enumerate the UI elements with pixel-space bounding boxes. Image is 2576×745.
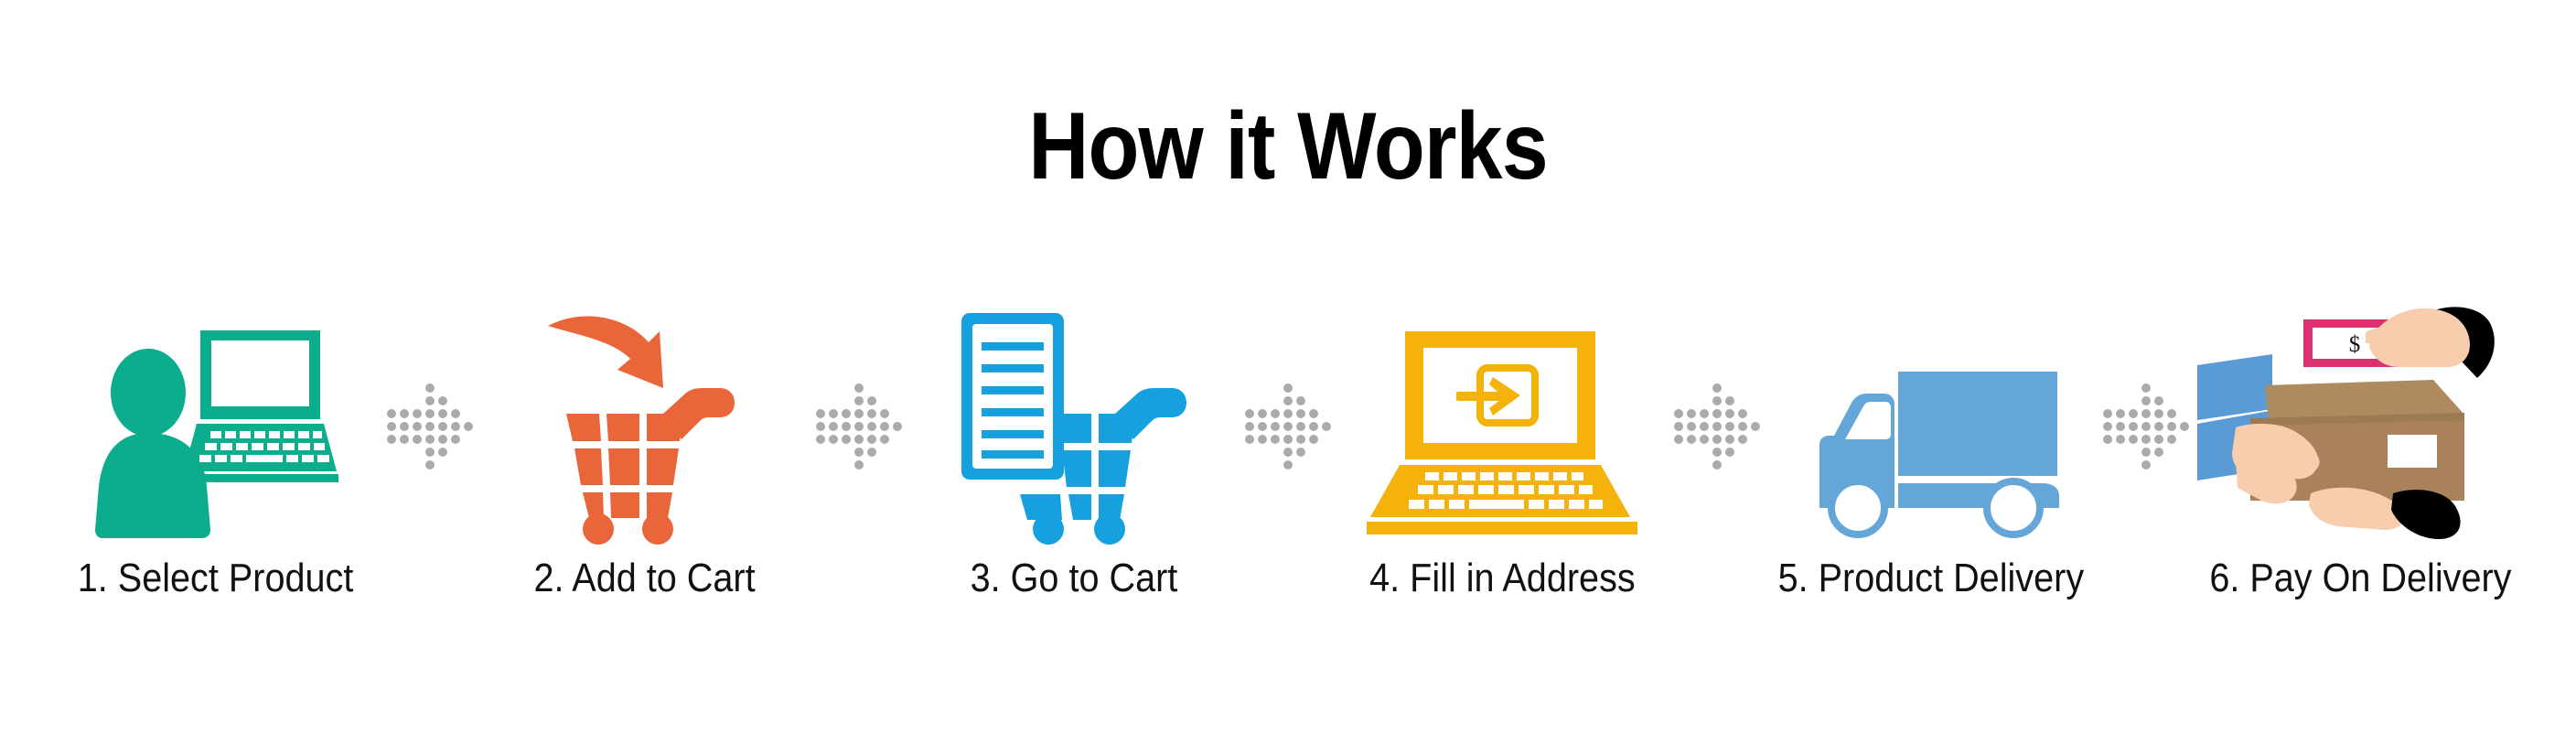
step-label-4: 4. Fill in Address	[1369, 556, 1636, 600]
page-title: How it Works	[155, 99, 2421, 194]
step-add-to-cart[interactable]: 2. Add to Cart	[480, 302, 810, 600]
dotted-arrow-right-icon	[2102, 377, 2190, 465]
laptop-login-icon	[1365, 329, 1639, 540]
dotted-arrow-right-icon	[815, 377, 903, 465]
delivery-truck-icon	[1794, 357, 2068, 540]
step-label-3: 3. Go to Cart	[970, 556, 1177, 600]
document-with-cart-icon	[960, 311, 1188, 540]
how-it-works-infographic: How it Works	[0, 0, 2576, 745]
dotted-arrow-4	[1668, 302, 1766, 540]
icon-slot-6: $	[2195, 302, 2525, 540]
step-product-delivery[interactable]: 5. Product Delivery	[1766, 302, 2096, 600]
dotted-arrow-2	[810, 302, 908, 540]
dotted-arrow-5	[2097, 302, 2195, 540]
hands-box-cash-icon: $	[2195, 307, 2525, 540]
dotted-arrow-right-icon	[1244, 377, 1332, 465]
step-select-product[interactable]: 1. Select Product	[51, 302, 381, 600]
step-label-2: 2. Add to Cart	[534, 556, 756, 600]
cart-with-arrow-icon	[546, 311, 743, 540]
step-pay-on-delivery[interactable]: $	[2195, 302, 2525, 600]
icon-slot-4	[1337, 302, 1667, 540]
icon-slot-5	[1766, 302, 2096, 540]
step-label-6: 6. Pay On Delivery	[2209, 556, 2511, 600]
step-label-5: 5. Product Delivery	[1778, 556, 2085, 600]
icon-slot-2	[480, 302, 810, 540]
dotted-arrow-right-icon	[1673, 377, 1761, 465]
dotted-arrow-3	[1239, 302, 1337, 540]
dollar-symbol: $	[2349, 332, 2361, 357]
step-label-1: 1. Select Product	[78, 556, 354, 600]
step-fill-in-address[interactable]: 4. Fill in Address	[1337, 302, 1667, 600]
dotted-arrow-right-icon	[386, 377, 474, 465]
person-with-laptop-icon	[97, 325, 335, 540]
icon-slot-3	[909, 302, 1239, 540]
icon-slot-1	[51, 302, 381, 540]
steps-row: 1. Select Product	[51, 302, 2525, 613]
dotted-arrow-1	[381, 302, 479, 540]
step-go-to-cart[interactable]: 3. Go to Cart	[909, 302, 1239, 600]
